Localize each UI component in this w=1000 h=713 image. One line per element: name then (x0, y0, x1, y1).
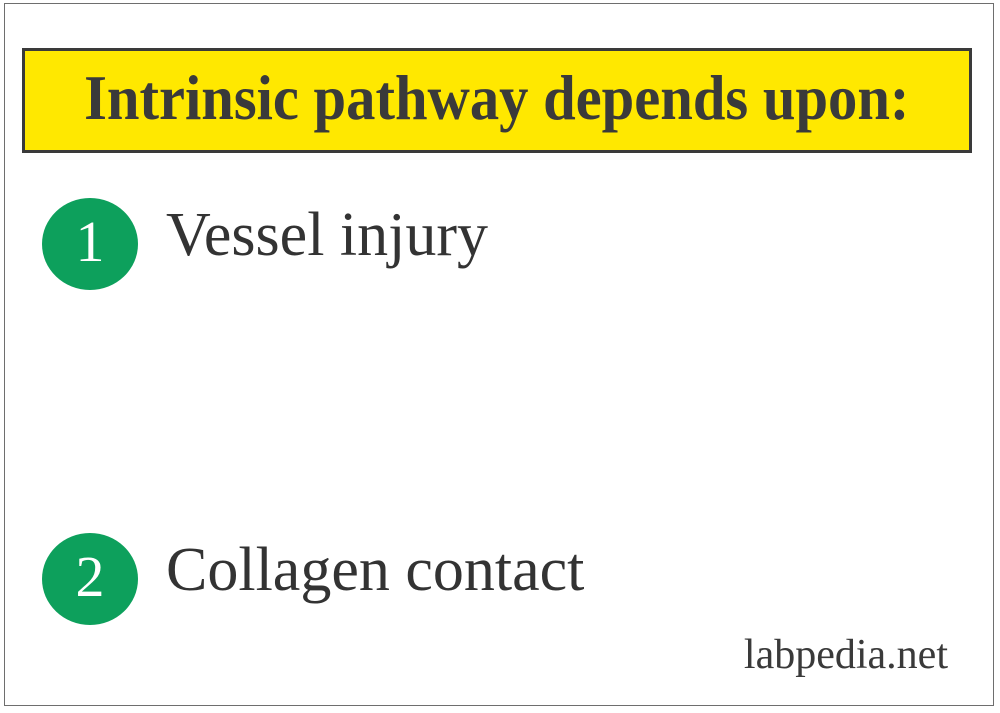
numbered-list: 1 Vessel injury 2 Collagen contact 3 Fac… (0, 186, 1000, 690)
watermark-labpedia: labpedia.net (744, 634, 948, 676)
page-title: Intrinsic pathway depends upon: (84, 67, 909, 134)
title-banner: Intrinsic pathway depends upon: (22, 48, 972, 153)
bullet-number-label: 1 (76, 213, 105, 276)
list-item: 1 Vessel injury (0, 186, 1000, 354)
bullet-circle-1: 1 (42, 198, 138, 290)
slide-canvas: Intrinsic pathway depends upon: 1 Vessel… (0, 0, 1000, 713)
list-item: 2 Collagen contact (0, 354, 1000, 522)
list-item-label: Vessel injury (166, 204, 488, 266)
